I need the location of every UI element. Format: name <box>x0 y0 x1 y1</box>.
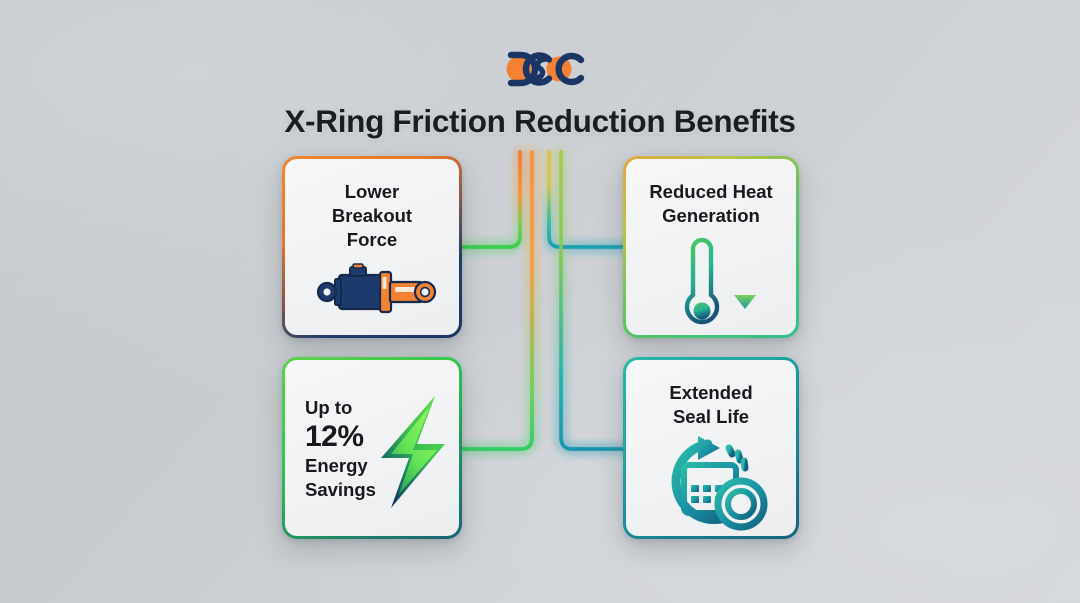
card-body: Reduced Heat Generation <box>626 159 796 335</box>
card-title: Extended Seal Life <box>626 381 796 429</box>
card-title: Reduced Heat Generation <box>626 180 796 228</box>
calendar-cycle-seal-ring-icon <box>658 432 770 534</box>
card-body: Extended Seal Life <box>626 360 796 536</box>
card-body: Lower Breakout Force <box>285 159 459 335</box>
card-title: Lower Breakout Force <box>285 180 459 252</box>
benefit-card-energy-savings[interactable]: Up to 12% Energy Savings <box>282 357 462 539</box>
hydraulic-cylinder-icon <box>317 263 437 323</box>
benefit-card-extended-seal-life[interactable]: Extended Seal Life <box>623 357 799 539</box>
benefit-card-reduced-heat-generation[interactable]: Reduced Heat Generation <box>623 156 799 338</box>
stat-value: 12% <box>305 420 376 454</box>
gradient-connector-lines <box>0 0 1080 603</box>
benefit-card-lower-breakout-force[interactable]: Lower Breakout Force <box>282 156 462 338</box>
card-title: Up to 12% Energy Savings <box>305 396 376 502</box>
infographic-canvas: X-Ring Friction Reduction Benefits <box>0 0 1080 603</box>
card-body: Up to 12% Energy Savings <box>285 360 459 536</box>
lightning-bolt-icon <box>375 392 451 512</box>
page-title: X-Ring Friction Reduction Benefits <box>0 103 1080 140</box>
dsc-logo <box>489 47 591 87</box>
thermometer-down-arrow-icon <box>669 237 761 333</box>
